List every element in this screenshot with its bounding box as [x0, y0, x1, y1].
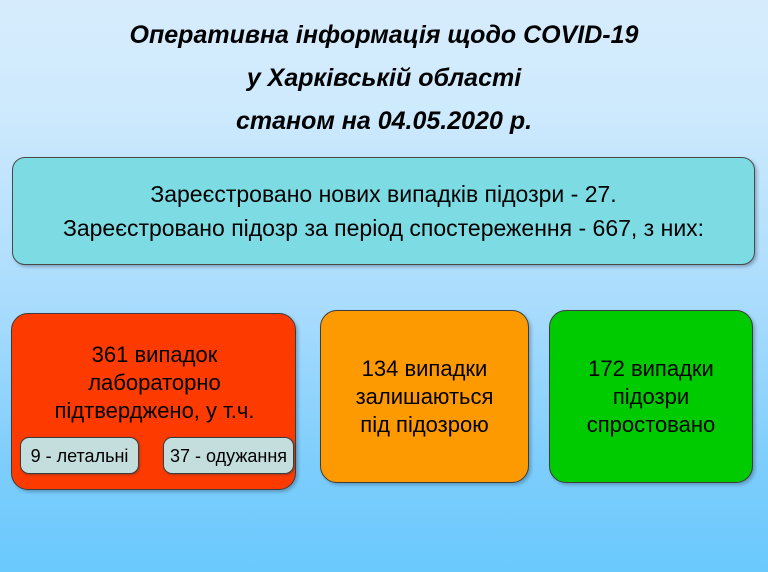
suspected-line-3: під підозрою	[360, 411, 488, 439]
refuted-line-2: підозри	[613, 383, 689, 411]
infographic-slide: Оперативна інформація щодо COVID-19 у Ха…	[0, 0, 768, 572]
refuted-line-3: спростовано	[587, 411, 716, 439]
summary-banner: Зареєстровано нових випадків підозри - 2…	[12, 157, 755, 265]
title-line-1: Оперативна інформація щодо COVID-19	[0, 14, 768, 57]
stat-card-confirmed: 361 випадок лабораторно підтверджено, у …	[11, 313, 296, 490]
stat-card-confirmed-text: 361 випадок лабораторно підтверджено, у …	[12, 341, 297, 425]
stat-card-refuted-text: 172 випадки підозри спростовано	[550, 311, 752, 482]
page-title: Оперативна інформація щодо COVID-19 у Ха…	[0, 14, 768, 143]
confirmed-line-2: лабораторно	[12, 369, 297, 397]
title-line-3: станом на 04.05.2020 р.	[0, 100, 768, 143]
stat-sub-card-fatal: 9 - летальні	[20, 437, 139, 474]
summary-line-new-cases: Зареєстровано нових випадків підозри - 2…	[150, 177, 616, 211]
stat-sub-card-fatal-label: 9 - летальні	[31, 446, 129, 466]
confirmed-line-1: 361 випадок	[12, 341, 297, 369]
title-line-2: у Харківській області	[0, 57, 768, 100]
summary-line-total-cases: Зареєстровано підозр за період спостереж…	[63, 211, 704, 245]
suspected-line-1: 134 випадки	[362, 355, 488, 383]
confirmed-line-3: підтверджено, у т.ч.	[12, 397, 297, 425]
suspected-line-2: залишаються	[356, 383, 494, 411]
refuted-line-1: 172 випадки	[588, 355, 714, 383]
stat-card-suspected-text: 134 випадки залишаються під підозрою	[321, 311, 528, 482]
stat-card-suspected: 134 випадки залишаються під підозрою	[320, 310, 529, 483]
stat-sub-card-recovered: 37 - одужання	[163, 437, 294, 474]
stat-card-refuted: 172 випадки підозри спростовано	[549, 310, 753, 483]
stat-sub-card-recovered-label: 37 - одужання	[170, 446, 287, 466]
